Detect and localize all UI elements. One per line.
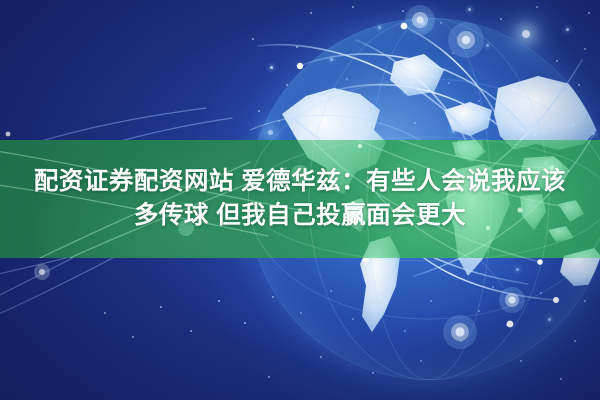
headline-line-1: 配资证券配资网站 爱德华兹：有些人会说我应该 [34, 167, 566, 197]
headline-block: 配资证券配资网站 爱德华兹：有些人会说我应该 多传球 但我自己投赢面会更大 [0, 140, 600, 258]
banner-image: 配资证券配资网站 爱德华兹：有些人会说我应该 多传球 但我自己投赢面会更大 [0, 0, 600, 400]
headline-line-2: 多传球 但我自己投赢面会更大 [134, 201, 466, 231]
